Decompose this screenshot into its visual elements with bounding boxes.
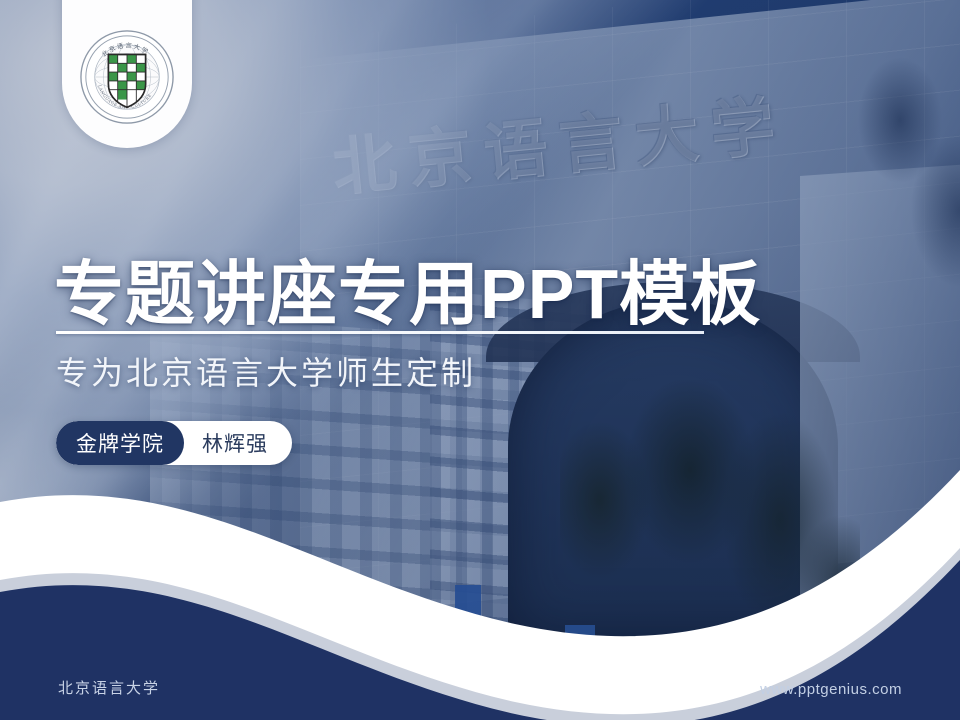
badge-presenter-name: 林辉强 bbox=[184, 428, 292, 458]
university-seal-icon: 北京语言大学 LANGUAGE AND CULTURE bbox=[78, 28, 176, 126]
title-divider bbox=[56, 331, 704, 334]
presentation-cover-slide: 北京语言大学 北京语言大学 LANGUAGE AND CULTURE bbox=[0, 0, 960, 720]
page-title: 专题讲座专用PPT模板 bbox=[54, 238, 761, 339]
foliage-cluster-right bbox=[840, 40, 960, 340]
page-subtitle: 专为北京语言大学师生定制 bbox=[56, 348, 476, 394]
footer-university-name: 北京语言大学 bbox=[58, 677, 160, 698]
university-logo-badge: 北京语言大学 LANGUAGE AND CULTURE bbox=[62, 0, 192, 148]
footer-website-url[interactable]: www.pptgenius.com bbox=[760, 681, 902, 698]
badge-institution-label: 金牌学院 bbox=[56, 421, 184, 465]
presenter-badge: 金牌学院 林辉强 bbox=[56, 421, 292, 465]
